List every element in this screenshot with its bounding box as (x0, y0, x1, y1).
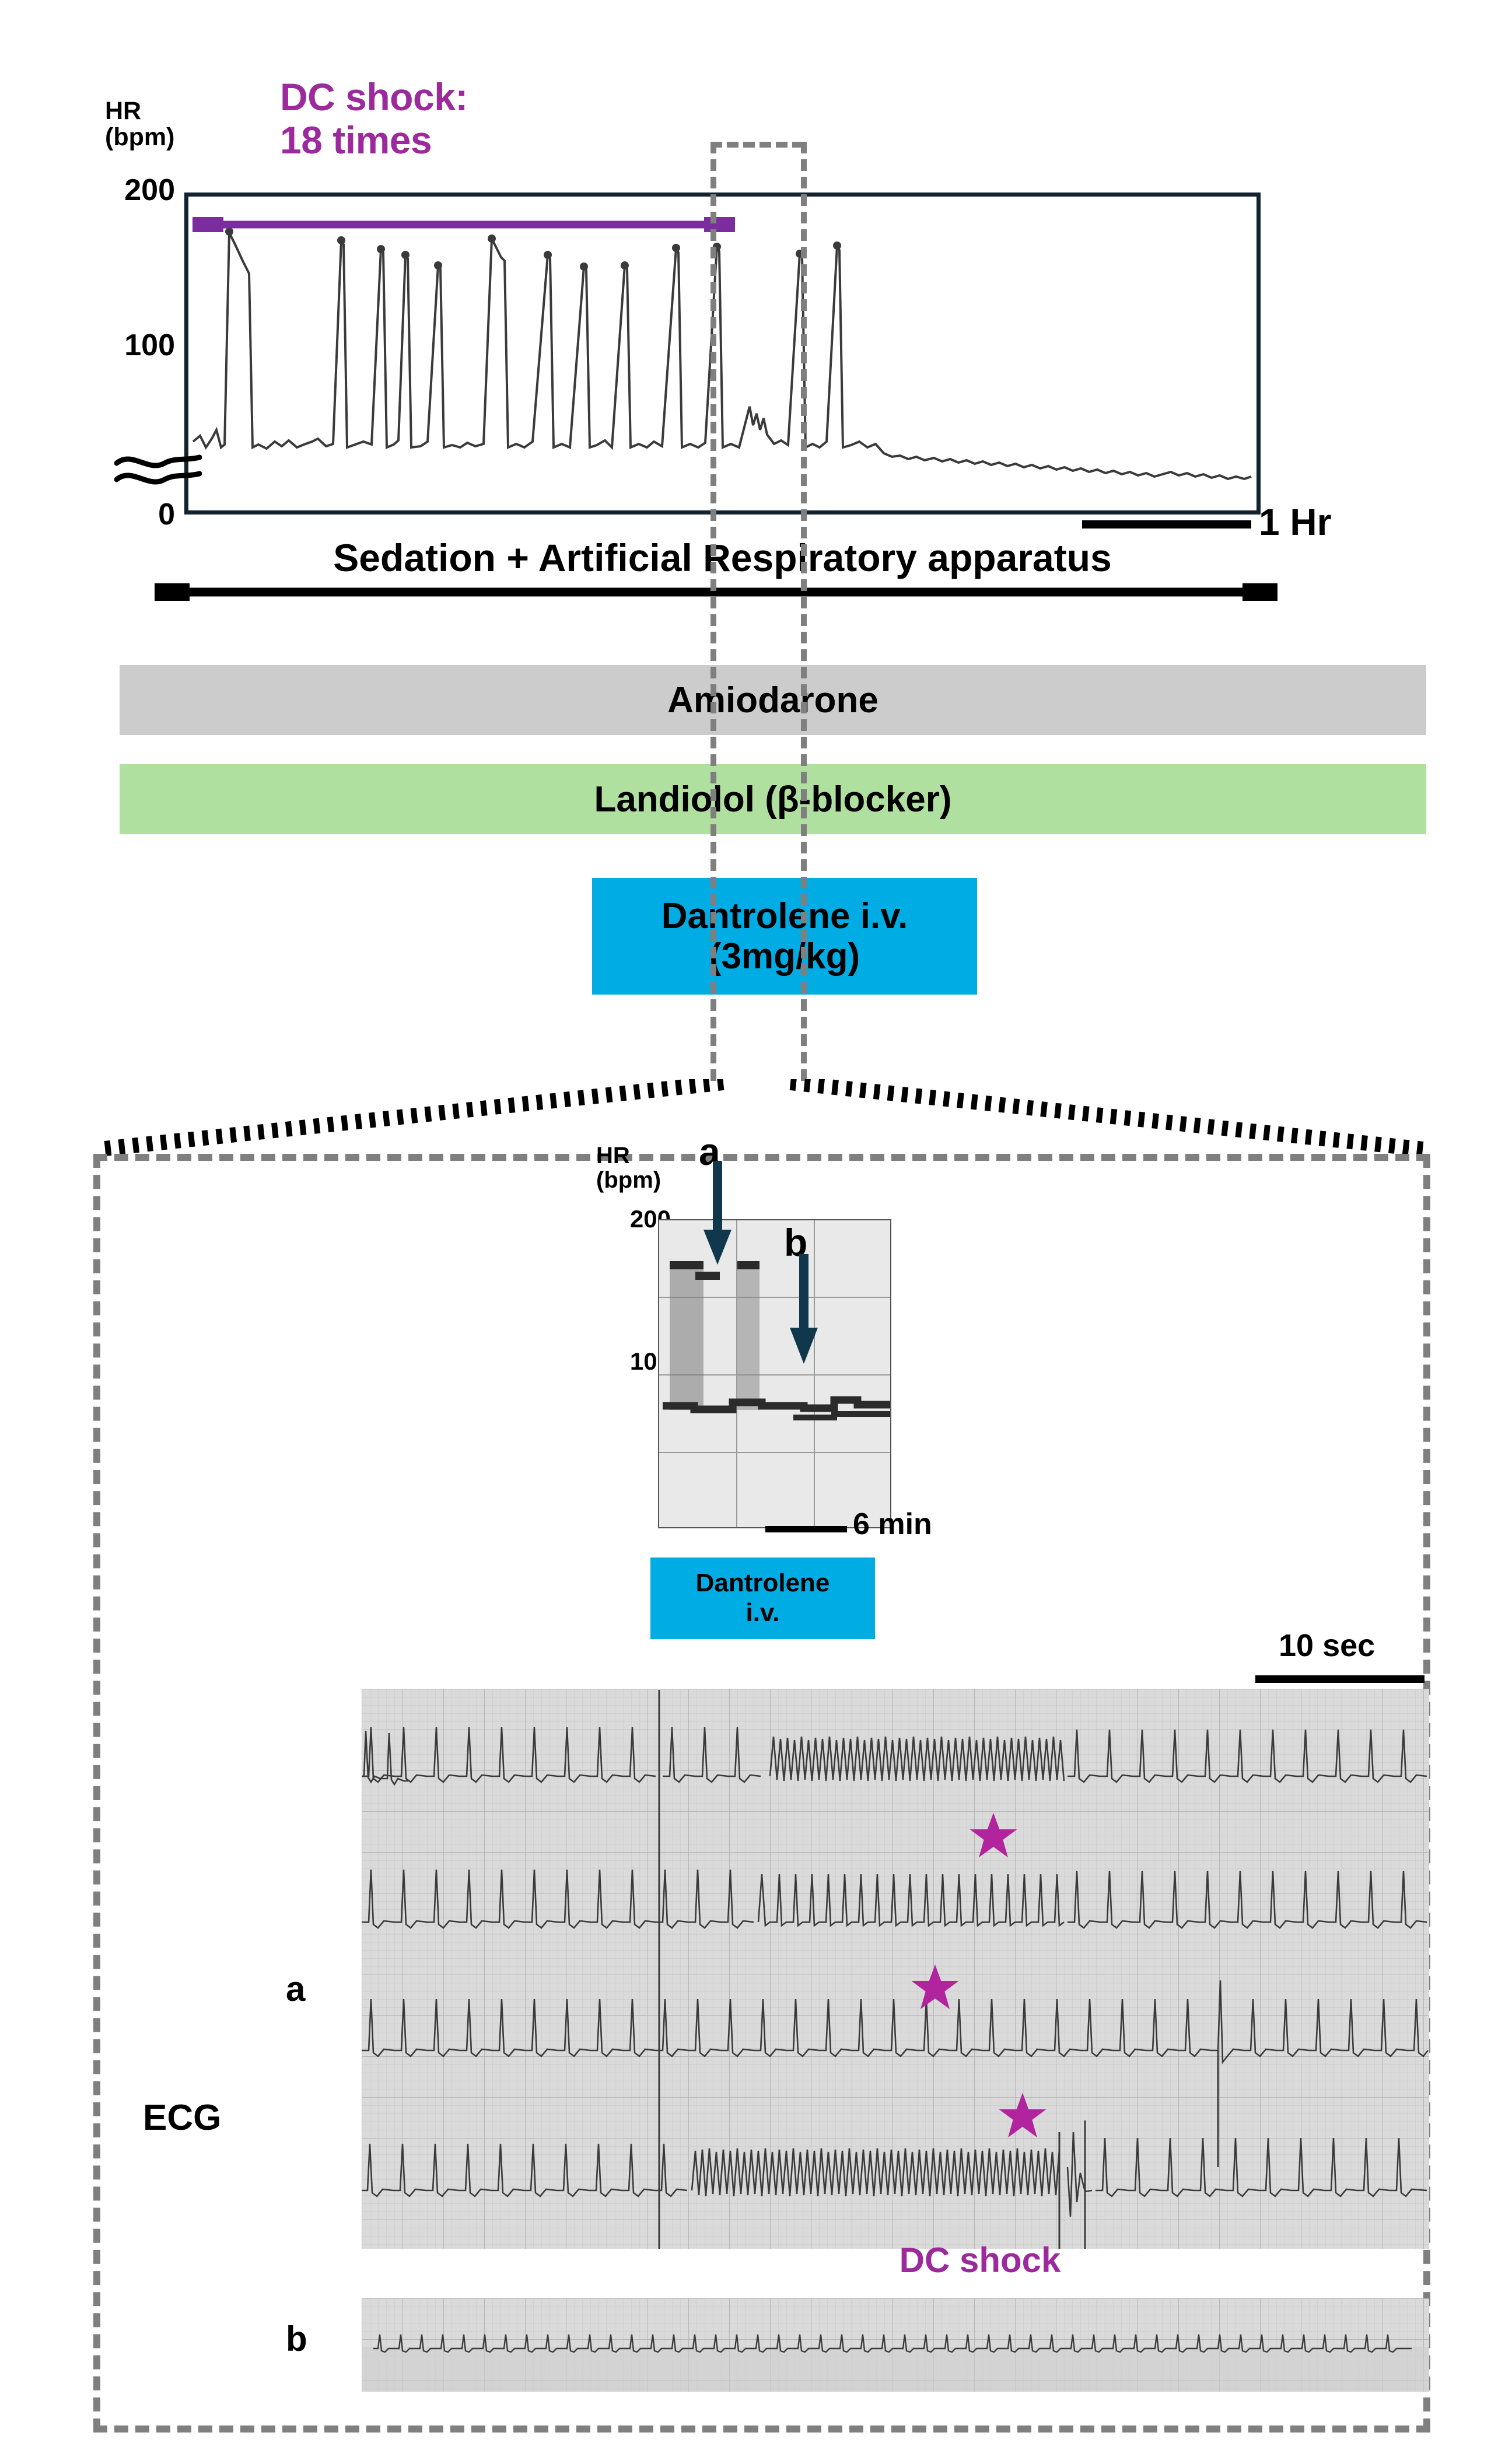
inset-hr-axis-line1: HR (596, 1143, 713, 1168)
ecg-panel-label: ECG (143, 2097, 221, 2138)
callout-left-edge (710, 142, 716, 1081)
drug-bar-landiolol-label: Landiolol (β-blocker) (594, 779, 951, 820)
inset-dantrolene-line1: Dantrolene (696, 1569, 830, 1598)
axis-break-icon (114, 443, 202, 496)
inset-scalebar (765, 1526, 847, 1532)
dc-shock-star-3 (998, 2091, 1048, 2141)
callout-right-edge (801, 142, 807, 1081)
inset-marker-a-arrow (700, 1161, 735, 1266)
hr-axis-label-line1: HR (105, 98, 210, 124)
drug-bar-dantrolene: Dantrolene i.v. (3mg/kg) (592, 878, 977, 995)
callout-top-edge (710, 142, 804, 148)
drug-bar-amiodarone: Amiodarone (120, 665, 1426, 735)
ecg-strip-b (362, 2298, 1429, 2392)
ecg-trace-a (362, 1689, 1429, 2249)
hr-ytick-100: 100 (87, 328, 175, 363)
inset-hr-chart (658, 1219, 891, 1528)
sedation-label: Sedation + Artificial Respiratory appara… (184, 535, 1261, 580)
zoom-connector-lines (0, 1079, 1512, 1161)
ecg-scalebar (1255, 1675, 1424, 1683)
inset-hr-axis-label: HR (bpm) (596, 1143, 713, 1192)
dc-shock-star-1 (968, 1811, 1019, 1861)
scalebar-1hr (1082, 520, 1251, 528)
ecg-scalebar-label: 10 sec (1279, 1627, 1375, 1664)
ecg-strip-b-label: b (286, 2319, 307, 2359)
dc-shock-star-2 (910, 1963, 960, 2013)
dc-shock-title-line1: DC shock: (280, 76, 607, 119)
drug-bar-landiolol: Landiolol (β-blocker) (120, 764, 1426, 834)
hr-trend-line (188, 197, 1256, 510)
inset-dantrolene-line2: i.v. (746, 1598, 780, 1628)
inset-marker-b-arrow (786, 1254, 821, 1365)
dc-shock-title: DC shock: 18 times (280, 76, 607, 162)
inset-hr-axis-line2: (bpm) (596, 1168, 713, 1192)
hr-axis-label-line2: (bpm) (105, 124, 210, 150)
inset-dantrolene-bar: Dantrolene i.v. (650, 1557, 875, 1639)
hr-axis-label: HR (bpm) (105, 98, 210, 150)
ecg-strip-a-label: a (286, 1969, 305, 2009)
inset-hr-plot (659, 1220, 891, 1528)
drug-bar-amiodarone-label: Amiodarone (667, 680, 878, 721)
dc-shock-title-line2: 18 times (280, 119, 607, 162)
dc-shock-bottom-label: DC shock (805, 2240, 1155, 2280)
scalebar-1hr-label: 1 Hr (1259, 501, 1332, 544)
hr-ytick-200: 200 (87, 173, 175, 208)
ecg-strip-a (362, 1689, 1429, 2249)
hr-ytick-0: 0 (87, 497, 175, 532)
dc-shock-span-arrow (192, 217, 735, 232)
inset-scalebar-label: 6 min (853, 1507, 932, 1542)
figure-root: HR (bpm) 200 100 0 DC shock: 18 times (0, 0, 1512, 2450)
drug-bar-dantrolene-label-line1: Dantrolene i.v. (661, 896, 908, 936)
drug-bar-dantrolene-label-line2: (3mg/kg) (709, 936, 860, 977)
ecg-trace-b (362, 2298, 1429, 2392)
